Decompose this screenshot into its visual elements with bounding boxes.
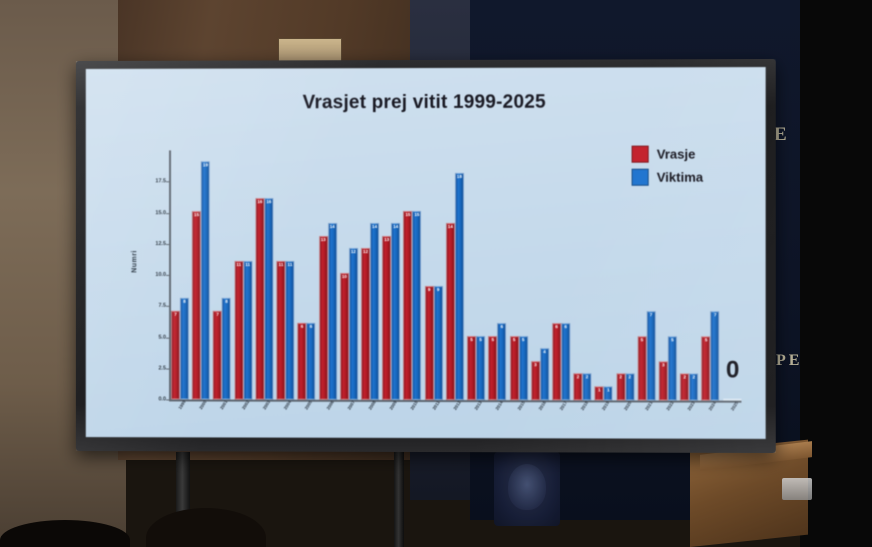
banner-text-fragment-2: PE bbox=[776, 352, 802, 370]
bar-viktima-2016: 4 bbox=[540, 348, 549, 400]
slide-canvas: Vrasjet prej vitit 1999-2025 VrasjeVikti… bbox=[86, 67, 766, 439]
bar-viktima-2022: 5 bbox=[668, 336, 677, 401]
bar-group: 552015 bbox=[510, 150, 528, 400]
bar-group-container: 7819991519200078200111112002161620031111… bbox=[171, 149, 741, 400]
bar-vrasje-2021: 5 bbox=[637, 336, 646, 401]
bar-group: 11112004 bbox=[276, 150, 294, 400]
y-axis-tick: 15.0 bbox=[155, 210, 166, 216]
bar-viktima-2001: 8 bbox=[222, 298, 231, 400]
bar-group: 14182012 bbox=[446, 150, 464, 400]
bar-vrasje-2025 bbox=[723, 399, 732, 401]
bar-viktima-2010: 15 bbox=[412, 211, 421, 400]
bar-vrasje-2016: 3 bbox=[531, 361, 540, 401]
bar-value-label: 7 bbox=[172, 312, 179, 317]
bar-value-label: 13 bbox=[383, 238, 390, 243]
bar-vrasje-2017: 6 bbox=[552, 323, 561, 400]
bar-value-label: 6 bbox=[308, 325, 315, 330]
bar-value-label: 3 bbox=[660, 363, 667, 368]
bar-value-label: 2 bbox=[584, 375, 591, 380]
bar-value-label: 9 bbox=[435, 288, 442, 293]
bar-value-label: 5 bbox=[703, 338, 710, 343]
y-axis-tick: 17.5 bbox=[155, 179, 166, 185]
bar-value-label: 16 bbox=[256, 200, 263, 205]
bar-group: 10122007 bbox=[340, 150, 358, 400]
bar-value-label: 1 bbox=[596, 388, 603, 393]
podium-object bbox=[782, 478, 812, 500]
bar-group: 782001 bbox=[213, 150, 231, 399]
bar-viktima-2002: 11 bbox=[243, 260, 252, 399]
bar-viktima-2006: 14 bbox=[328, 223, 337, 400]
bar-viktima-2009: 14 bbox=[391, 223, 400, 400]
bar-value-label: 14 bbox=[447, 225, 454, 230]
bar-value-label: 5 bbox=[468, 338, 475, 343]
bar-value-label: 3 bbox=[532, 363, 539, 368]
bar-viktima-2023: 2 bbox=[689, 373, 698, 400]
bar-value-label: 7 bbox=[648, 313, 655, 318]
bar-group: 222023 bbox=[680, 150, 698, 401]
bar-vrasje-2001: 7 bbox=[213, 310, 222, 399]
bar-viktima-2024: 7 bbox=[711, 311, 720, 401]
presentation-display: Vrasjet prej vitit 1999-2025 VrasjeVikti… bbox=[76, 59, 776, 453]
bar-value-label: 15 bbox=[404, 213, 411, 218]
bar-group: 13142006 bbox=[319, 150, 337, 400]
bar-value-label: 8 bbox=[223, 300, 230, 305]
bar-group: 662017 bbox=[552, 150, 570, 401]
photo-scene: E PE Vrasjet prej vitit 1999-2025 Vrasje… bbox=[0, 0, 872, 547]
bar-value-label: 7 bbox=[214, 312, 221, 317]
bar-group: 12142008 bbox=[361, 150, 379, 400]
bar-vrasje-2019: 1 bbox=[595, 386, 604, 401]
bar-value-label: 14 bbox=[371, 225, 378, 230]
bar-viktima-2011: 9 bbox=[434, 286, 443, 401]
bar-vrasje-2002: 11 bbox=[234, 260, 243, 399]
bar-vrasje-2007: 10 bbox=[340, 273, 349, 400]
bar-group: 112019 bbox=[595, 150, 613, 401]
bar-group: 781999 bbox=[171, 150, 189, 399]
bar-viktima-2018: 2 bbox=[582, 373, 591, 400]
bar-viktima-2005: 6 bbox=[307, 323, 316, 400]
bar-group: 352022 bbox=[659, 150, 677, 401]
bar-vrasje-2010: 15 bbox=[403, 211, 412, 400]
bar-viktima-2014: 6 bbox=[497, 323, 506, 400]
bar-value-label: 15 bbox=[413, 213, 420, 218]
bar-group: 15192000 bbox=[192, 150, 210, 399]
bar-viktima-2003: 16 bbox=[264, 198, 273, 400]
bar-value-label: 12 bbox=[350, 250, 357, 255]
bar-group: 552013 bbox=[467, 150, 485, 400]
bar-vrasje-2006: 13 bbox=[319, 236, 328, 400]
bar-value-label: 6 bbox=[553, 325, 560, 330]
page-title: Vrasjet prej vitit 1999-2025 bbox=[86, 91, 766, 115]
bar-group: 992011 bbox=[425, 150, 443, 400]
y-axis-tick: 2.5 bbox=[158, 365, 166, 371]
bar-group: 342016 bbox=[531, 150, 549, 400]
bar-vrasje-2005: 6 bbox=[298, 323, 307, 400]
bar-value-label: 13 bbox=[320, 238, 327, 243]
bar-value-label: 4 bbox=[541, 350, 548, 355]
bar-value-label: 12 bbox=[362, 250, 369, 255]
screen-stand-leg-right bbox=[394, 452, 404, 547]
bar-value-label: 9 bbox=[426, 288, 433, 293]
bar-group: 572021 bbox=[637, 150, 655, 401]
bar-viktima-2019: 1 bbox=[604, 386, 613, 401]
bar-value-label: 5 bbox=[520, 338, 527, 343]
bar-value-label: 10 bbox=[341, 275, 348, 280]
bar-viktima-2012: 18 bbox=[455, 173, 464, 400]
bar-vrasje-2011: 9 bbox=[425, 286, 434, 401]
bar-group: 562014 bbox=[488, 150, 506, 400]
bar-value-label: 16 bbox=[265, 200, 272, 205]
bar-viktima-2008: 14 bbox=[370, 223, 379, 400]
y-axis-tick: 5.0 bbox=[158, 334, 166, 340]
bar-value-label: 2 bbox=[690, 375, 697, 380]
bar-vrasje-2004: 11 bbox=[276, 260, 285, 399]
bar-vrasje-2012: 14 bbox=[446, 223, 455, 400]
bar-viktima-2000: 19 bbox=[201, 161, 210, 400]
bar-value-label: 14 bbox=[329, 225, 336, 230]
bar-value-label: 19 bbox=[202, 163, 209, 168]
bar-value-label: 2 bbox=[617, 375, 624, 380]
bar-value-label: 2 bbox=[574, 375, 581, 380]
bar-group: 15152010 bbox=[403, 150, 421, 400]
bar-value-label: 5 bbox=[477, 338, 484, 343]
bar-value-label: 1 bbox=[605, 388, 612, 393]
bar-vrasje-2024: 5 bbox=[702, 336, 711, 401]
y-axis-ticks: 0.02.55.07.510.012.515.017.5 bbox=[131, 150, 166, 399]
bar-vrasje-2014: 5 bbox=[488, 336, 497, 401]
bar-group: 662005 bbox=[298, 150, 316, 400]
bar-vrasje-2023: 2 bbox=[680, 373, 689, 400]
bar-viktima-2020: 2 bbox=[625, 373, 634, 400]
room-dark-edge bbox=[800, 0, 872, 547]
bar-vrasje-2022: 3 bbox=[659, 361, 668, 401]
bar-group: 222020 bbox=[616, 150, 634, 401]
bar-viktima-2021: 7 bbox=[647, 311, 656, 401]
bar-value-label: 6 bbox=[299, 325, 306, 330]
bar-value-label: 5 bbox=[669, 338, 676, 343]
bar-value-label: 6 bbox=[498, 325, 505, 330]
bar-value-label: 15 bbox=[193, 213, 200, 218]
bar-vrasje-2013: 5 bbox=[467, 336, 476, 401]
zero-annotation: 0 bbox=[726, 356, 739, 384]
bar-group: 222018 bbox=[573, 150, 591, 401]
bar-value-label: 2 bbox=[681, 375, 688, 380]
bar-viktima-1999: 8 bbox=[180, 298, 189, 400]
bar-vrasje-2009: 13 bbox=[382, 236, 391, 400]
x-axis-tick: 2011 bbox=[431, 400, 440, 411]
bar-viktima-2007: 12 bbox=[349, 248, 358, 400]
bar-vrasje-2018: 2 bbox=[573, 373, 582, 400]
bar-value-label: 7 bbox=[712, 313, 719, 318]
y-axis-tick: 10.0 bbox=[155, 272, 166, 278]
bar-viktima-2017: 6 bbox=[561, 323, 570, 400]
bar-value-label: 14 bbox=[392, 225, 399, 230]
bar-viktima-2013: 5 bbox=[476, 336, 485, 401]
bar-group: 13142009 bbox=[382, 150, 400, 400]
bar-value-label: 2 bbox=[626, 375, 633, 380]
bar-value-label: 5 bbox=[511, 338, 518, 343]
y-axis-tick: 7.5 bbox=[158, 303, 166, 309]
banner-text-fragment-1: E bbox=[774, 124, 790, 146]
bar-group: 11112002 bbox=[234, 150, 252, 399]
bar-viktima-2004: 11 bbox=[285, 260, 294, 399]
bar-value-label: 11 bbox=[235, 262, 242, 267]
y-axis-tick: 0.0 bbox=[158, 396, 166, 402]
bar-vrasje-2003: 16 bbox=[255, 198, 264, 400]
bar-vrasje-2008: 12 bbox=[361, 248, 370, 400]
chart-plot-area: Numri 0.02.55.07.510.012.515.017.5 78199… bbox=[131, 149, 741, 400]
bar-vrasje-2020: 2 bbox=[616, 373, 625, 400]
bar-value-label: 11 bbox=[244, 262, 251, 267]
bar-value-label: 5 bbox=[489, 338, 496, 343]
bar-value-label: 5 bbox=[638, 338, 645, 343]
bar-group: 16162003 bbox=[255, 150, 273, 399]
bar-value-label: 18 bbox=[456, 175, 463, 180]
bar-value-label: 6 bbox=[562, 325, 569, 330]
bar-vrasje-2000: 15 bbox=[192, 211, 201, 400]
bar-value-label: 11 bbox=[286, 262, 293, 267]
bar-vrasje-1999: 7 bbox=[171, 310, 180, 399]
institution-emblem bbox=[494, 452, 560, 526]
bar-value-label: 8 bbox=[181, 300, 188, 305]
bar-viktima-2015: 5 bbox=[519, 336, 528, 401]
bar-value-label: 11 bbox=[277, 262, 284, 267]
y-axis-tick: 12.5 bbox=[155, 241, 166, 247]
bar-group: 572024 bbox=[702, 150, 720, 401]
bar-vrasje-2015: 5 bbox=[510, 336, 519, 401]
audience-silhouette-1 bbox=[146, 508, 266, 547]
